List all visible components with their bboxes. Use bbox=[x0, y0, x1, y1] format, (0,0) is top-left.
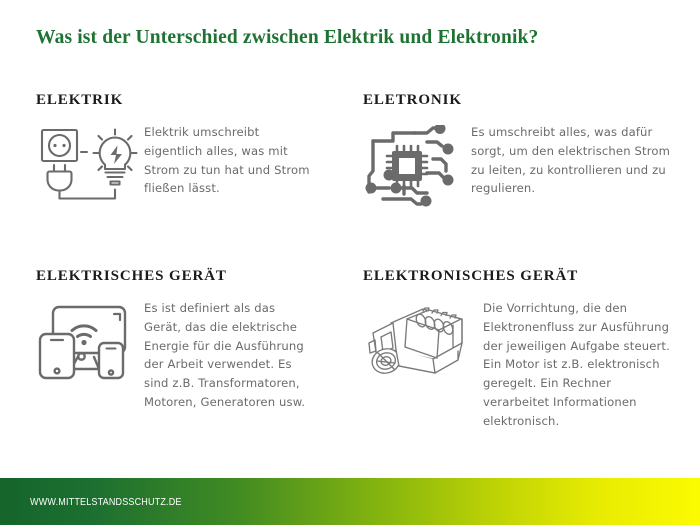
icon-wrap-elektrik bbox=[36, 123, 144, 203]
socket-plug-bulb-icon bbox=[36, 125, 140, 203]
icon-wrap-eletronik bbox=[363, 123, 471, 207]
card-body-elektrisches-geraet: Es ist definiert als das Gerät, das die … bbox=[36, 299, 336, 412]
card-text-eletronik: Es umschreibt alles, was dafür sorgt, um… bbox=[471, 123, 671, 198]
footer-bar: WWW.MITTELSTANDSSCHUTZ.DE bbox=[0, 478, 700, 525]
engine-motor-icon bbox=[363, 303, 475, 381]
card-elektrisches-geraet: ELEKTRISCHES GERÄT bbox=[36, 268, 336, 412]
card-body-eletronik: Es umschreibt alles, was dafür sorgt, um… bbox=[363, 123, 673, 207]
icon-wrap-elektrisches-geraet bbox=[36, 299, 144, 383]
icon-wrap-elektronisches-geraet bbox=[363, 299, 483, 381]
card-text-elektrik: Elektrik umschreibt eigentlich alles, wa… bbox=[144, 123, 316, 198]
circuit-board-chip-icon bbox=[363, 125, 459, 207]
card-body-elektrik: Elektrik umschreibt eigentlich alles, wa… bbox=[36, 123, 336, 203]
footer-website-url[interactable]: WWW.MITTELSTANDSSCHUTZ.DE bbox=[30, 496, 182, 508]
card-eletronik: ELETRONIK bbox=[363, 92, 673, 207]
card-elektrik: ELEKTRIK bbox=[36, 92, 336, 203]
card-heading-elektrisches-geraet: ELEKTRISCHES GERÄT bbox=[36, 268, 336, 285]
card-text-elektrisches-geraet: Es ist definiert als das Gerät, das die … bbox=[144, 299, 316, 412]
slide-canvas: Was ist der Unterschied zwischen Elektri… bbox=[0, 0, 700, 525]
devices-wifi-icon bbox=[36, 301, 136, 383]
card-body-elektronisches-geraet: Die Vorrichtung, die den Elektronenfluss… bbox=[363, 299, 673, 430]
card-text-elektronisches-geraet: Die Vorrichtung, die den Elektronenfluss… bbox=[483, 299, 673, 430]
card-heading-elektronisches-geraet: ELEKTRONISCHES GERÄT bbox=[363, 268, 673, 285]
page-title: Was ist der Unterschied zwischen Elektri… bbox=[36, 26, 666, 49]
card-heading-eletronik: ELETRONIK bbox=[363, 92, 673, 109]
card-heading-elektrik: ELEKTRIK bbox=[36, 92, 336, 109]
card-elektronisches-geraet: ELEKTRONISCHES GERÄT bbox=[363, 268, 673, 430]
